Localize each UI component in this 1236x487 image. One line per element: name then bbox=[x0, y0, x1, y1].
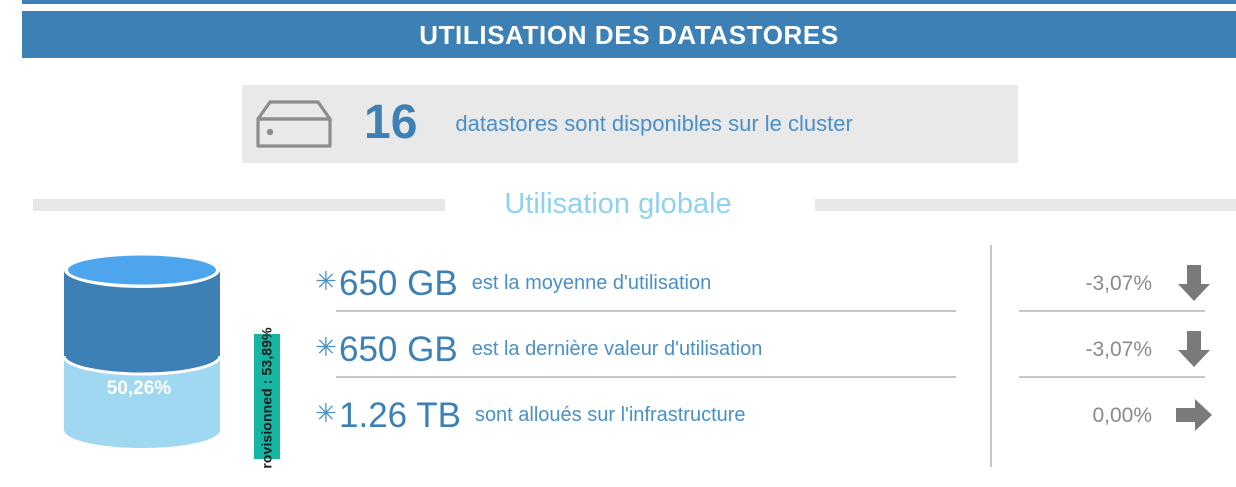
stat-divider bbox=[336, 376, 956, 378]
stat-row: ✳ 650 GB est la moyenne d'utilisation bbox=[315, 250, 975, 316]
bullet-asterisk-icon: ✳ bbox=[315, 268, 339, 294]
trend-percent: 0,00% bbox=[1092, 405, 1152, 426]
arrow-down-icon bbox=[1174, 329, 1214, 369]
stat-description: sont alloués sur l'infrastructure bbox=[475, 405, 746, 425]
dashboard-canvas: UTILISATION DES DATASTORES 16 datastores… bbox=[0, 0, 1236, 487]
stat-value: 1.26 TB bbox=[339, 398, 461, 433]
provisioned-badge-text-wrap: rovisionned : 53,89% bbox=[255, 310, 279, 485]
bullet-asterisk-icon: ✳ bbox=[315, 334, 339, 360]
datastore-count-label: datastores sont disponibles sur le clust… bbox=[455, 113, 852, 135]
stats-column: ✳ 650 GB est la moyenne d'utilisation ✳ … bbox=[315, 250, 975, 462]
top-accent-strip bbox=[22, 0, 1236, 4]
trend-row: 0,00% bbox=[1010, 382, 1220, 448]
trend-divider bbox=[1019, 310, 1205, 312]
page-title: UTILISATION DES DATASTORES bbox=[419, 22, 839, 48]
gauge-used-label: 50,26% bbox=[60, 378, 218, 400]
datastore-count: 16 bbox=[364, 99, 417, 147]
datastore-summary-panel: 16 datastores sont disponibles sur le cl… bbox=[242, 85, 1018, 163]
stat-row: ✳ 650 GB est la dernière valeur d'utilis… bbox=[315, 316, 975, 382]
stat-description: est la dernière valeur d'utilisation bbox=[472, 339, 763, 359]
header-bar: UTILISATION DES DATASTORES bbox=[22, 11, 1236, 58]
usage-cylinder-gauge: 50,26% bbox=[60, 252, 225, 452]
trend-divider bbox=[1019, 376, 1205, 378]
arrow-down-icon bbox=[1174, 263, 1214, 303]
stat-row: ✳ 1.26 TB sont alloués sur l'infrastruct… bbox=[315, 382, 975, 448]
bullet-asterisk-icon: ✳ bbox=[315, 400, 339, 426]
stat-value: 650 GB bbox=[339, 266, 458, 301]
trend-percent: -3,07% bbox=[1085, 273, 1152, 294]
arrow-right-icon bbox=[1174, 395, 1214, 435]
trend-row: -3,07% bbox=[1010, 316, 1220, 382]
provisioned-label: rovisionned : 53,89% bbox=[259, 327, 275, 468]
trend-row: -3,07% bbox=[1010, 250, 1220, 316]
stat-value: 650 GB bbox=[339, 332, 458, 367]
trend-percent: -3,07% bbox=[1085, 339, 1152, 360]
stat-divider bbox=[336, 310, 956, 312]
section-title: Utilisation globale bbox=[0, 183, 1236, 225]
column-separator bbox=[990, 245, 992, 467]
trend-column: -3,07% -3,07% 0,00% bbox=[1010, 250, 1220, 462]
stat-description: est la moyenne d'utilisation bbox=[472, 273, 712, 293]
section-heading-row: Utilisation globale bbox=[0, 183, 1236, 225]
cylinder-svg bbox=[60, 252, 225, 452]
disk-drive-icon bbox=[254, 98, 334, 150]
